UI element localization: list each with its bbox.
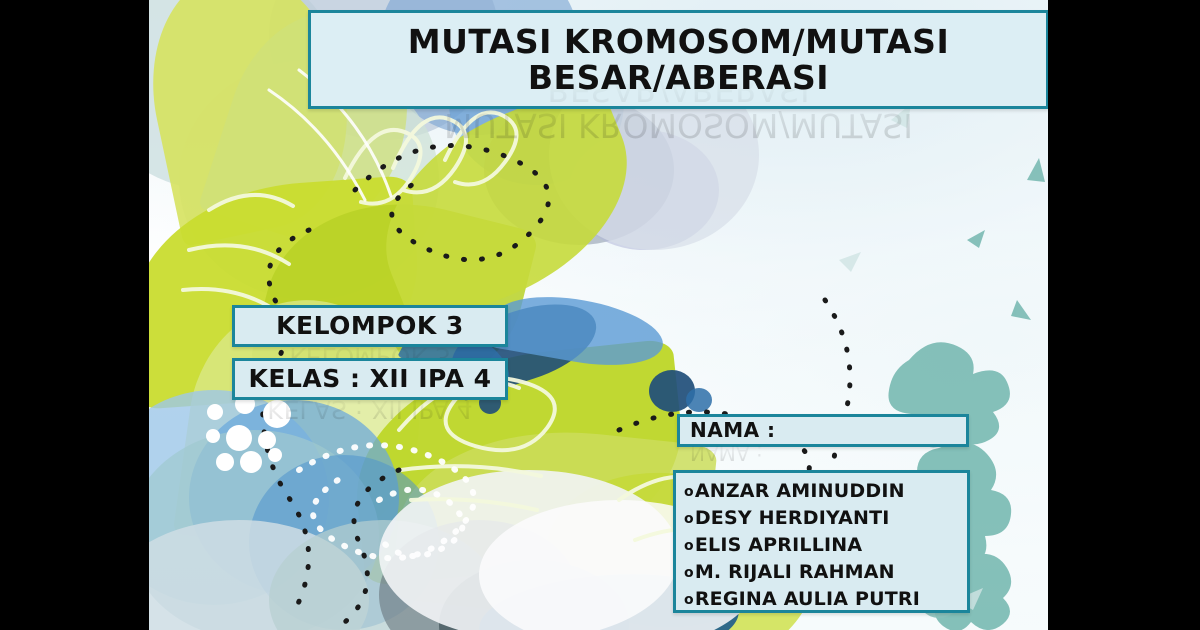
slide-title-text: MUTASI KROMOSOM/MUTASI BESAR/ABERASI [311,13,1046,96]
bullet-icon: o [684,511,694,527]
letterbox-bar-right [1048,0,1200,630]
bullet-icon: o [684,484,694,500]
list-item: oREGINA AULIA PUTRI [684,586,967,613]
slide-title-box: MUTASI KROMOSOM/MUTASI BESAR/ABERASI MUT… [308,10,1048,109]
names-header-text: NAMA : [680,417,966,444]
letterbox-bar-left [0,0,149,630]
list-item: oDESY HERDIYANTI [684,505,967,532]
name-text: ANZAR AMINUDDIN [695,480,905,502]
name-text: M. RIJALI RAHMAN [695,561,895,583]
slide-title-line-1: MUTASI KROMOSOM/MUTASI [311,24,1046,60]
slide-title-line-2: BESAR/ABERASI [311,60,1046,96]
names-list-box: oANZAR AMINUDDIN oDESY HERDIYANTI oELIS … [673,470,970,613]
group-label-text: KELOMPOK 3 [235,308,505,344]
list-item: oELIS APRILLINA [684,532,967,559]
names-header-box: NAMA : NAMA : [677,414,969,447]
class-label-text: KELAS : XII IPA 4 [235,361,505,397]
bullet-icon: o [684,592,694,608]
list-item: oANZAR AMINUDDIN [684,478,967,505]
group-label-box: KELOMPOK 3 KELOMPOK 3 [232,305,508,347]
name-text: ELIS APRILLINA [695,534,862,556]
name-text: REGINA AULIA PUTRI [695,588,920,610]
list-item: oM. RIJALI RAHMAN [684,559,967,586]
class-label-box: KELAS : XII IPA 4 KELAS : XII IPA 4 [232,358,508,400]
screenshot-canvas: MUTASI KROMOSOM/MUTASI BESAR/ABERASI MUT… [0,0,1200,630]
names-list: oANZAR AMINUDDIN oDESY HERDIYANTI oELIS … [676,476,967,613]
bullet-icon: o [684,565,694,581]
bullet-icon: o [684,538,694,554]
name-text: DESY HERDIYANTI [695,507,890,529]
decor-navy-dot-2 [686,388,712,412]
slide-canvas: MUTASI KROMOSOM/MUTASI BESAR/ABERASI MUT… [149,0,1048,630]
